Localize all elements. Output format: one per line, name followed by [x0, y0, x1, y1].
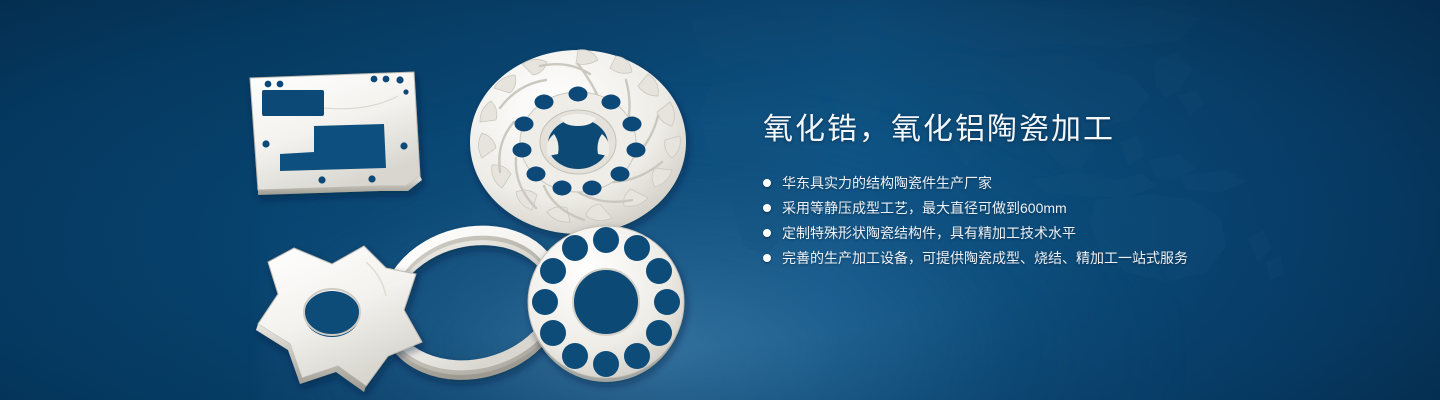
feature-bullet-list: 华东具实力的结构陶瓷件生产厂家 采用等静压成型工艺，最大直径可做到600mm 定…	[763, 172, 1363, 269]
hero-headline: 氧化锆，氧化铝陶瓷加工	[763, 110, 1363, 150]
feature-bullet-text: 采用等静压成型工艺，最大直径可做到600mm	[782, 197, 1067, 219]
feature-bullet-text: 完善的生产加工设备，可提供陶瓷成型、烧结、精加工一站式服务	[782, 247, 1188, 269]
feature-bullet-item: 采用等静压成型工艺，最大直径可做到600mm	[763, 197, 1363, 219]
bullet-dot-icon	[763, 179, 771, 187]
product-ceramic-impeller-disc	[470, 50, 686, 234]
product-photo-collage	[228, 34, 688, 384]
product-ceramic-perforated-disc	[528, 226, 684, 382]
feature-bullet-item: 完善的生产加工设备，可提供陶瓷成型、烧结、精加工一站式服务	[763, 247, 1363, 269]
bullet-dot-icon	[763, 229, 771, 237]
feature-bullet-item: 定制特殊形状陶瓷结构件，具有精加工技术水平	[763, 222, 1363, 244]
feature-bullet-text: 定制特殊形状陶瓷结构件，具有精加工技术水平	[782, 222, 1076, 244]
feature-bullet-item: 华东具实力的结构陶瓷件生产厂家	[763, 172, 1363, 194]
bullet-dot-icon	[763, 254, 771, 262]
bullet-dot-icon	[763, 204, 771, 212]
feature-bullet-text: 华东具实力的结构陶瓷件生产厂家	[782, 172, 992, 194]
product-ceramic-mounting-plate	[250, 72, 422, 195]
hero-copy: 氧化锆，氧化铝陶瓷加工 华东具实力的结构陶瓷件生产厂家 采用等静压成型工艺，最大…	[763, 110, 1363, 272]
hero-banner: 氧化锆，氧化铝陶瓷加工 华东具实力的结构陶瓷件生产厂家 采用等静压成型工艺，最大…	[0, 0, 1440, 400]
